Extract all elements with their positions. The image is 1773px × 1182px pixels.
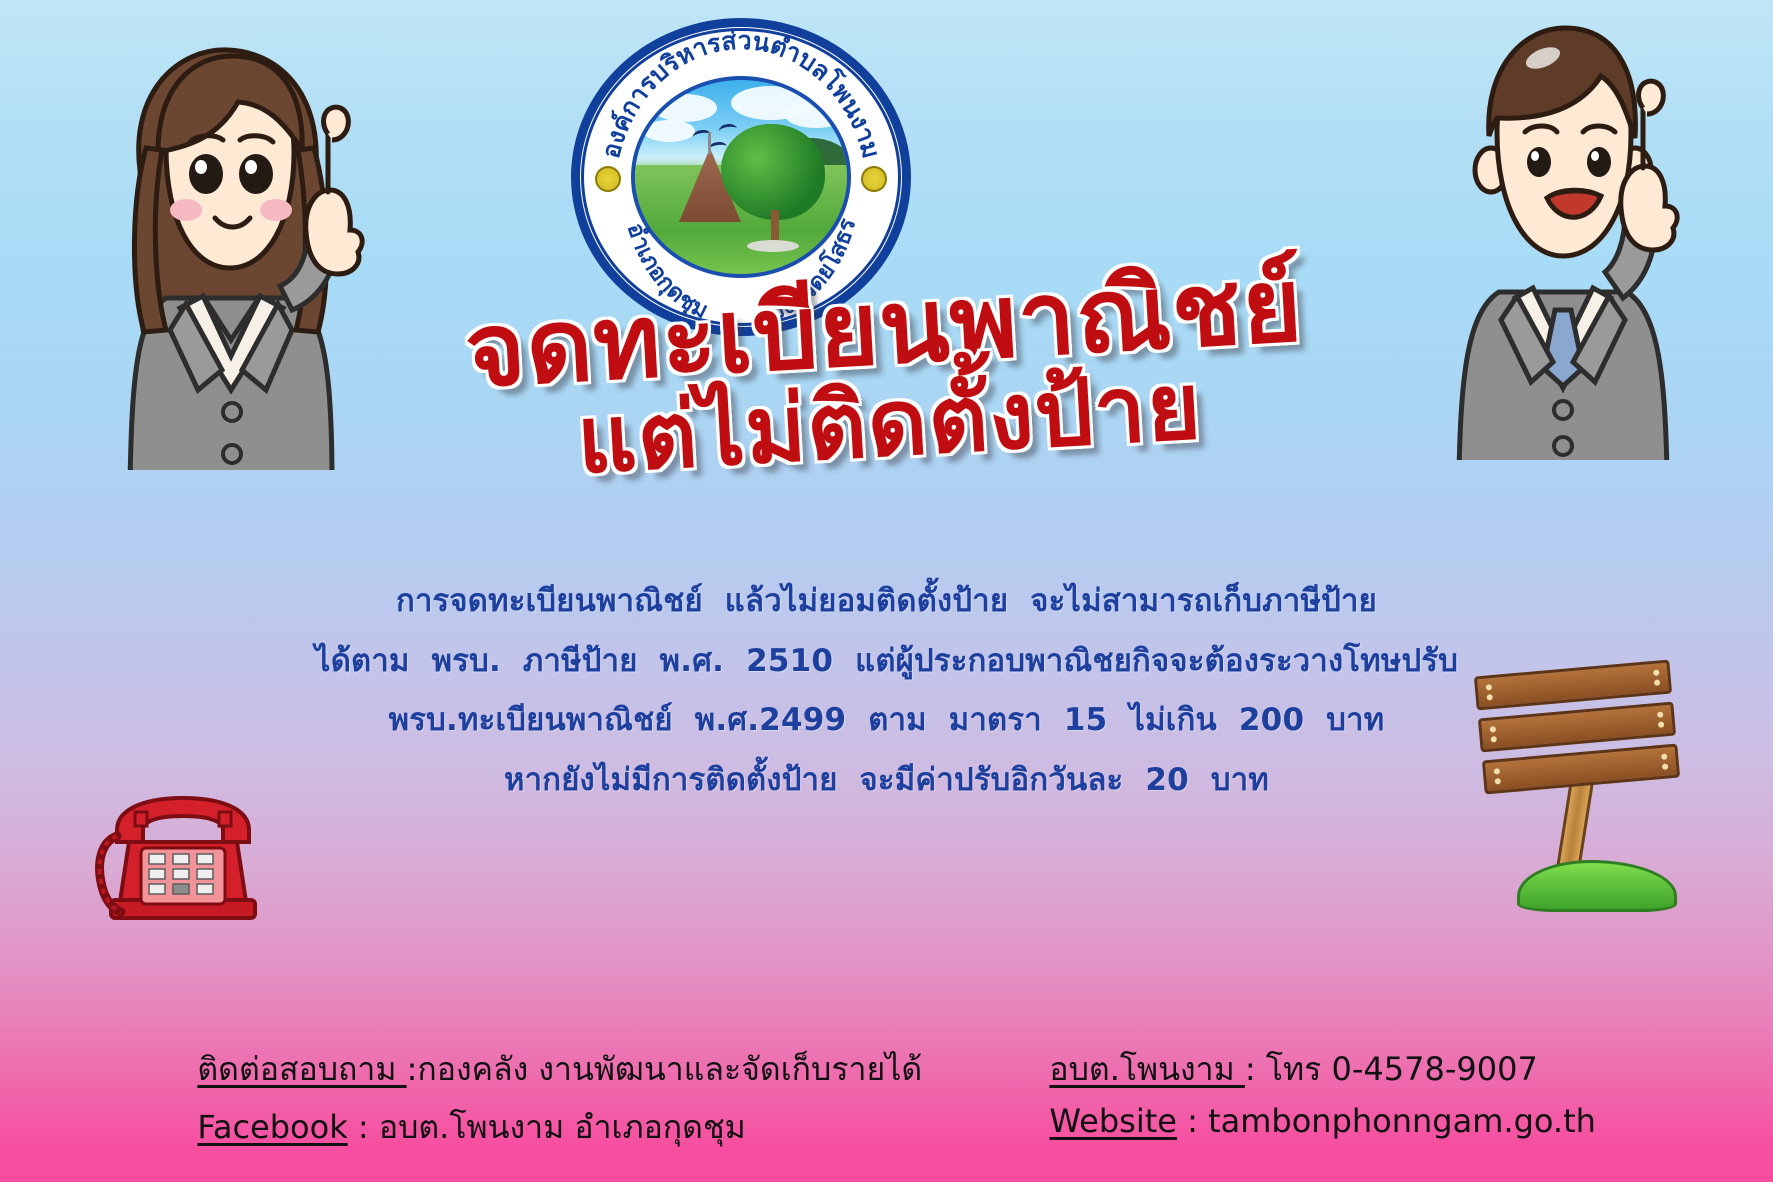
- sign-plank-middle: [1478, 702, 1676, 753]
- facebook-line[interactable]: Facebook : อบต.โพนงาม อำเภอกุดชุม: [116, 1064, 746, 1182]
- svg-text:องค์การบริหารส่วนตำบลโพนงาม: องค์การบริหารส่วนตำบลโพนงาม: [596, 26, 886, 161]
- seal-top-text: องค์การบริหารส่วนตำบลโพนงาม: [596, 26, 886, 161]
- red-telephone-illustration: [95, 790, 275, 930]
- sign-plank-top: [1474, 660, 1672, 711]
- website-value: : tambonphonngam.go.th: [1177, 1102, 1596, 1140]
- sign-grass-tuft: [1517, 860, 1677, 912]
- wooden-signboard-illustration: [1475, 660, 1705, 910]
- website-line[interactable]: Website : tambonphonngam.go.th: [968, 1064, 1596, 1178]
- body-line-1: การจดทะเบียนพาณิชย์ แล้วไม่ยอมติดตั้งป้า…: [0, 572, 1773, 632]
- poster-canvas: องค์การบริหารส่วนตำบลโพนงาม อำเภอกุดชุม …: [0, 0, 1773, 1182]
- footer-contact-block: ติดต่อสอบถาม :กองคลัง งานพัฒนาและจัดเก็บ…: [0, 1006, 1773, 1126]
- website-label[interactable]: Website: [1049, 1102, 1177, 1140]
- facebook-label[interactable]: Facebook: [197, 1108, 347, 1146]
- facebook-value: : อบต.โพนงาม อำเภอกุดชุม: [348, 1108, 746, 1146]
